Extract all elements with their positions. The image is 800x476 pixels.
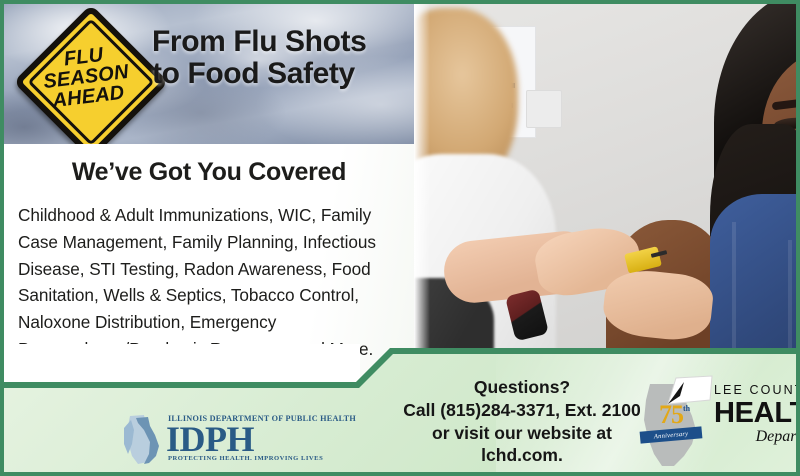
anniversary-badge: 75 th Anniversary (642, 404, 700, 442)
wall-dispenser (526, 90, 562, 128)
idph-illinois-icon (122, 414, 164, 466)
banner-headline: From Flu Shots to Food Safety (152, 26, 407, 91)
contact-line-questions: Questions? (400, 376, 644, 399)
lchd-wordmark: LEE COUNTY HEALTH Department (714, 384, 800, 446)
lee-county-health-logo: 75 th Anniversary LEE COUNTY HEALTH Depa… (634, 376, 798, 472)
road-sign-text: FLU SEASON AHEAD (19, 11, 152, 143)
headline-line-2: to Food Safety (152, 58, 407, 90)
headline-line-1: From Flu Shots (152, 26, 407, 58)
idph-acronym: IDPH (166, 421, 254, 457)
panel-notch-fill (4, 344, 360, 384)
sky-banner-image: FLU SEASON AHEAD From Flu Shots to Food … (4, 4, 414, 144)
white-flag-icon (662, 374, 714, 408)
photo-left-fade (414, 4, 430, 376)
contact-line-visit: or visit our website at (400, 422, 644, 445)
badge-banner-text: Anniversary (654, 430, 689, 440)
contact-line-phone[interactable]: Call (815)284-3371, Ext. 2100 (400, 399, 644, 422)
flu-season-sign: FLU SEASON AHEAD (26, 18, 146, 136)
lchd-line-department: Department (714, 428, 800, 446)
contact-line-website[interactable]: lchd.com. (400, 444, 644, 467)
services-list-text: Childhood & Adult Immunizations, WIC, Fa… (18, 202, 396, 363)
advertisement-card: FLU SEASON AHEAD From Flu Shots to Food … (0, 0, 800, 476)
idph-tagline: PROTECTING HEALTH. IMPROVING LIVES (168, 455, 323, 462)
badge-banner: Anniversary (640, 426, 703, 443)
vaccination-photo (414, 4, 800, 376)
lchd-line-lee-county: LEE COUNTY (714, 384, 800, 397)
idph-logo: ILLINOIS DEPARTMENT OF PUBLIC HEALTH IDP… (122, 410, 297, 468)
contact-info-block: Questions? Call (815)284-3371, Ext. 2100… (400, 376, 644, 467)
panel-subheading: We’ve Got You Covered (4, 158, 414, 187)
lchd-line-health: HEALTH (714, 399, 800, 429)
